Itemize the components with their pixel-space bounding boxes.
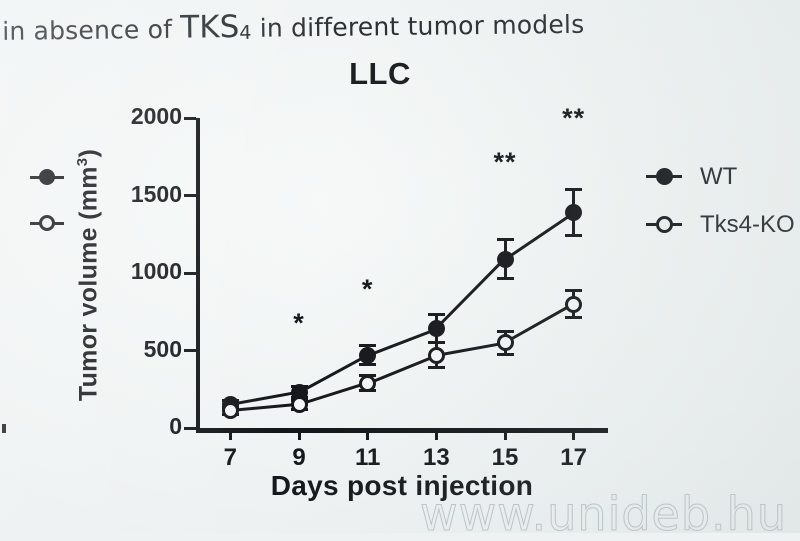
data-point [497, 251, 514, 268]
significance-marker: * [293, 308, 305, 339]
series-line-segment [435, 258, 506, 330]
adjacent-legend-item [30, 214, 64, 234]
y-tick [184, 117, 196, 120]
significance-marker: ** [493, 147, 516, 178]
data-point [359, 347, 376, 364]
error-bar-cap [565, 188, 582, 191]
y-tick-label: 1000 [131, 258, 182, 285]
y-axis-label: Tumor volume (mm3) [74, 120, 102, 430]
error-bar-cap [497, 353, 514, 356]
data-point [497, 334, 514, 351]
x-tick [298, 428, 301, 440]
series-line-segment [436, 341, 505, 356]
slide-heading-gene: TKS [180, 9, 239, 46]
slide-background: th in absence of TKS4 in different tumor… [0, 0, 800, 533]
data-point [222, 402, 239, 419]
legend-label: WT [700, 163, 737, 191]
data-point [359, 375, 376, 392]
data-point [428, 320, 445, 337]
slide-heading: th in absence of TKS4 in different tumor… [0, 4, 668, 49]
error-bar-cap [428, 366, 445, 369]
plot-area: 0500100015002000 7911131517 ****** [196, 118, 608, 432]
y-axis-line [196, 118, 200, 432]
x-tick [504, 428, 507, 440]
x-tick-label: 9 [292, 444, 305, 472]
x-tick-label: 15 [492, 444, 519, 472]
x-tick [366, 428, 369, 440]
y-tick [184, 272, 196, 275]
error-bar-cap [428, 341, 445, 344]
filled-circle-icon [656, 168, 673, 185]
series-line-segment [298, 354, 368, 394]
error-bar-cap [497, 330, 514, 333]
slide-heading-prefix: th in absence of [0, 15, 181, 47]
series-line-segment [504, 303, 574, 344]
error-bar-cap [497, 238, 514, 241]
x-axis-line [196, 428, 608, 433]
x-tick [435, 428, 438, 440]
series-line-segment [367, 327, 437, 356]
error-bar-cap [565, 316, 582, 319]
x-tick-label: 17 [560, 444, 587, 472]
y-tick-label: 0 [169, 413, 182, 440]
data-point [428, 347, 445, 364]
open-circle-icon [656, 216, 673, 233]
filled-circle-icon [39, 169, 55, 185]
y-tick [184, 349, 196, 352]
open-circle-icon [39, 215, 55, 231]
y-tick-label: 2000 [131, 103, 182, 130]
y-tick-label: 1500 [131, 181, 182, 208]
adjacent-legend-item [30, 168, 64, 188]
error-bar-cap [565, 289, 582, 292]
x-tick-label: 11 [355, 444, 380, 472]
x-tick-label: 7 [224, 444, 237, 472]
x-tick [572, 428, 575, 440]
data-point [565, 204, 582, 221]
chart-title: LLC [0, 56, 780, 92]
data-point [565, 296, 582, 313]
error-bar-cap [428, 313, 445, 316]
series-line-segment [230, 403, 299, 412]
x-tick-label: 13 [423, 444, 450, 472]
y-tick [184, 194, 196, 197]
x-tick [229, 428, 232, 440]
data-point [291, 396, 308, 413]
slide-heading-gene-subscript: 4 [239, 22, 252, 44]
adjacent-chart-axis-mark [2, 424, 6, 433]
significance-marker: * [362, 274, 374, 305]
legend-label: Tks4-KO [700, 211, 795, 239]
error-bar-cap [497, 277, 514, 280]
error-bar-cap [565, 234, 582, 237]
y-tick-label: 500 [144, 336, 182, 363]
series-line-segment [367, 354, 437, 385]
significance-marker: ** [562, 103, 585, 134]
y-tick [184, 427, 196, 430]
slide-heading-suffix: in different tumor models [251, 10, 584, 43]
series-line-segment [504, 211, 574, 260]
